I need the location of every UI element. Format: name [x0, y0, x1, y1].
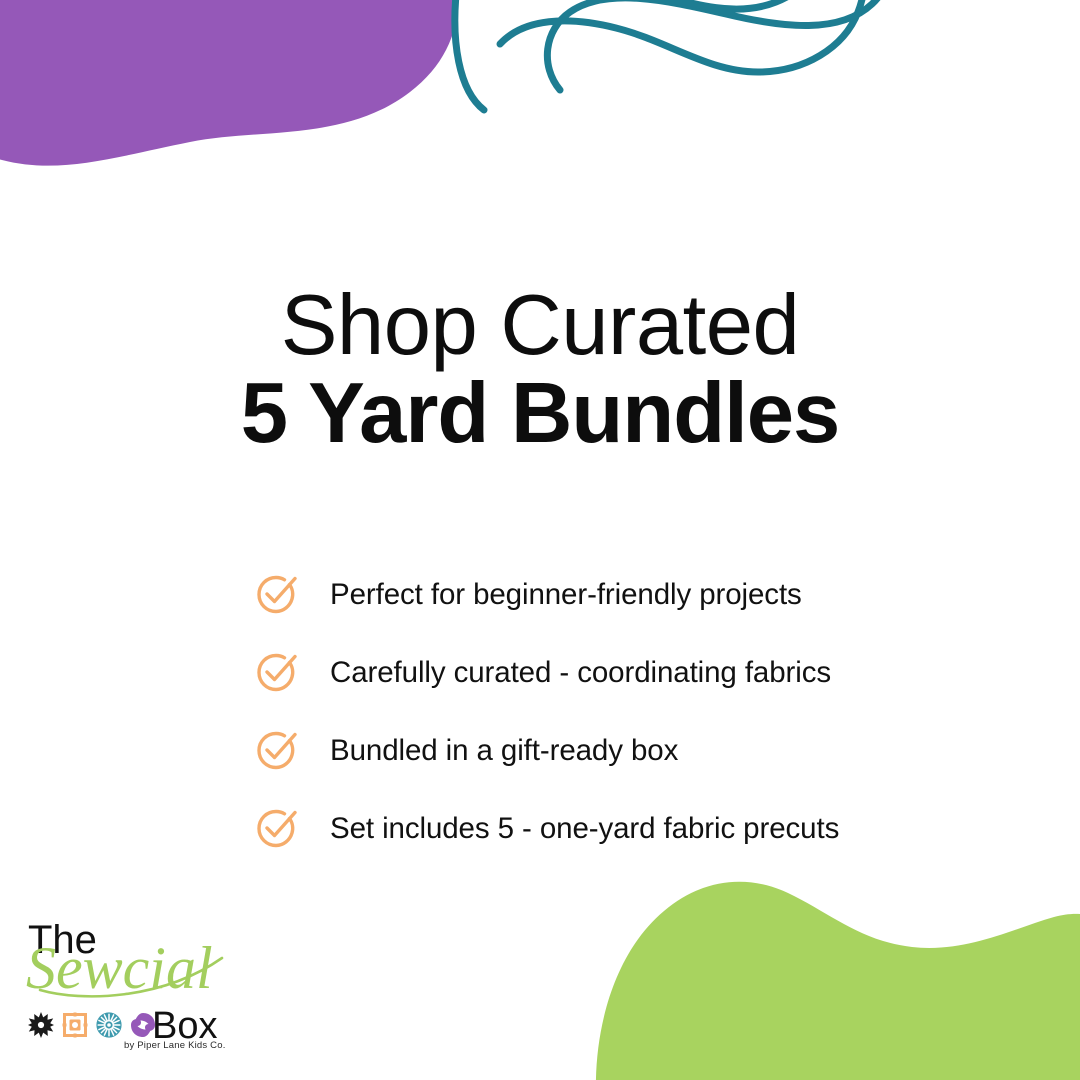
feature-label: Carefully curated - coordinating fabrics	[330, 656, 831, 690]
check-circle-icon	[252, 649, 300, 697]
list-item: Set includes 5 - one-yard fabric precuts	[252, 790, 952, 868]
page-title: Shop Curated 5 Yard Bundles	[0, 282, 1080, 457]
feature-label: Set includes 5 - one-yard fabric precuts	[330, 812, 839, 846]
check-circle-icon	[252, 805, 300, 853]
list-item: Bundled in a gift-ready box	[252, 712, 952, 790]
check-circle-icon	[252, 571, 300, 619]
brand-logo[interactable]: The Sewcial	[14, 912, 244, 1062]
logo-tagline: by Piper Lane Kids Co.	[124, 1040, 226, 1051]
feature-list: Perfect for beginner-friendly projects C…	[252, 556, 952, 868]
quilt-block-starburst-teal	[96, 1012, 122, 1038]
feature-label: Perfect for beginner-friendly projects	[330, 578, 802, 612]
teal-line-art-decoration	[440, 0, 920, 120]
quilt-block-star-black	[28, 1012, 54, 1038]
purple-blob-decoration	[0, 0, 500, 200]
quilt-block-square-orange	[62, 1012, 88, 1038]
list-item: Carefully curated - coordinating fabrics	[252, 634, 952, 712]
logo-script-text: Sewcial	[26, 935, 213, 1001]
page-title-line-2: 5 Yard Bundles	[0, 370, 1080, 458]
page-title-line-1: Shop Curated	[0, 282, 1080, 370]
feature-label: Bundled in a gift-ready box	[330, 734, 678, 768]
list-item: Perfect for beginner-friendly projects	[252, 556, 952, 634]
logo-script-sewcial: Sewcial	[22, 930, 236, 1006]
check-circle-icon	[252, 727, 300, 775]
quilt-block-row	[28, 1012, 156, 1038]
green-blob-decoration	[560, 855, 1080, 1080]
promo-canvas: Shop Curated 5 Yard Bundles Perfect for …	[0, 0, 1080, 1080]
